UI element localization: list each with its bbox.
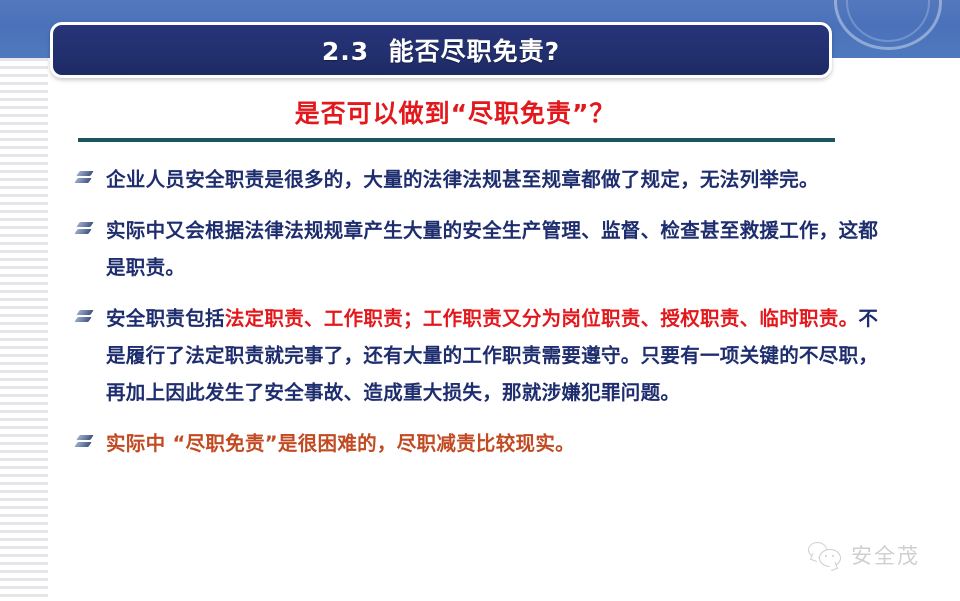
list-item-text: 企业人员安全职责是很多的，大量的法律法规甚至规章都做了规定，无法列举完。 — [106, 161, 876, 198]
wechat-bubbles-icon — [808, 542, 842, 568]
bullet-list: 企业人员安全职责是很多的，大量的法律法规甚至规章都做了规定，无法列举完。 实际中… — [72, 161, 948, 474]
list-item-text: 安全职责包括法定职责、工作职责；工作职责又分为岗位职责、授权职责、临时职责。不是… — [106, 300, 896, 411]
list-item: 实际中 “尽职免责”是很困难的，尽职减责比较现实。 — [72, 425, 948, 462]
left-pinstripe-decoration — [0, 58, 48, 601]
slide-subtitle: 是否可以做到“尽职免责”？ — [60, 94, 850, 130]
slide-title-bar: 2.3 能否尽职免责? — [50, 22, 832, 78]
text-segment: 企业人员安全职责是很多的，大量的法律法规甚至规章都做了规定，无法列举完。 — [106, 168, 819, 191]
diamond-double-bullet-icon — [76, 221, 94, 237]
text-segment-highlight: 法定职责、工作职责；工作职责又分为岗位职责、授权职责、临时职责。 — [225, 307, 859, 330]
presentation-slide: 2.3 能否尽职免责? 是否可以做到“尽职免责”？ 企业人员安全职责是很多的，大… — [0, 0, 960, 601]
diamond-double-bullet-icon — [76, 434, 94, 450]
page-title: 2.3 能否尽职免责? — [322, 32, 560, 68]
watermark-text: 安全茂 — [851, 540, 920, 570]
list-item: 企业人员安全职责是很多的，大量的法律法规甚至规章都做了规定，无法列举完。 — [72, 161, 948, 198]
divider-rule — [78, 138, 835, 142]
text-segment: 实际中又会根据法律法规规章产生大量的安全生产管理、监督、检查甚至救援工作，这都是… — [106, 219, 878, 279]
diamond-double-bullet-icon — [76, 170, 94, 186]
list-item-text: 实际中又会根据法律法规规章产生大量的安全生产管理、监督、检查甚至救援工作，这都是… — [106, 212, 881, 286]
watermark: 安全茂 — [808, 540, 920, 570]
list-item: 实际中又会根据法律法规规章产生大量的安全生产管理、监督、检查甚至救援工作，这都是… — [72, 212, 948, 286]
list-item: 安全职责包括法定职责、工作职责；工作职责又分为岗位职责、授权职责、临时职责。不是… — [72, 300, 948, 411]
list-item-text: 实际中 “尽职免责”是很困难的，尽职减责比较现实。 — [106, 425, 896, 462]
diamond-double-bullet-icon — [76, 309, 94, 325]
text-segment: 安全职责包括 — [106, 307, 225, 330]
text-segment-highlight: 实际中 “尽职免责”是很困难的，尽职减责比较现实。 — [106, 432, 575, 455]
